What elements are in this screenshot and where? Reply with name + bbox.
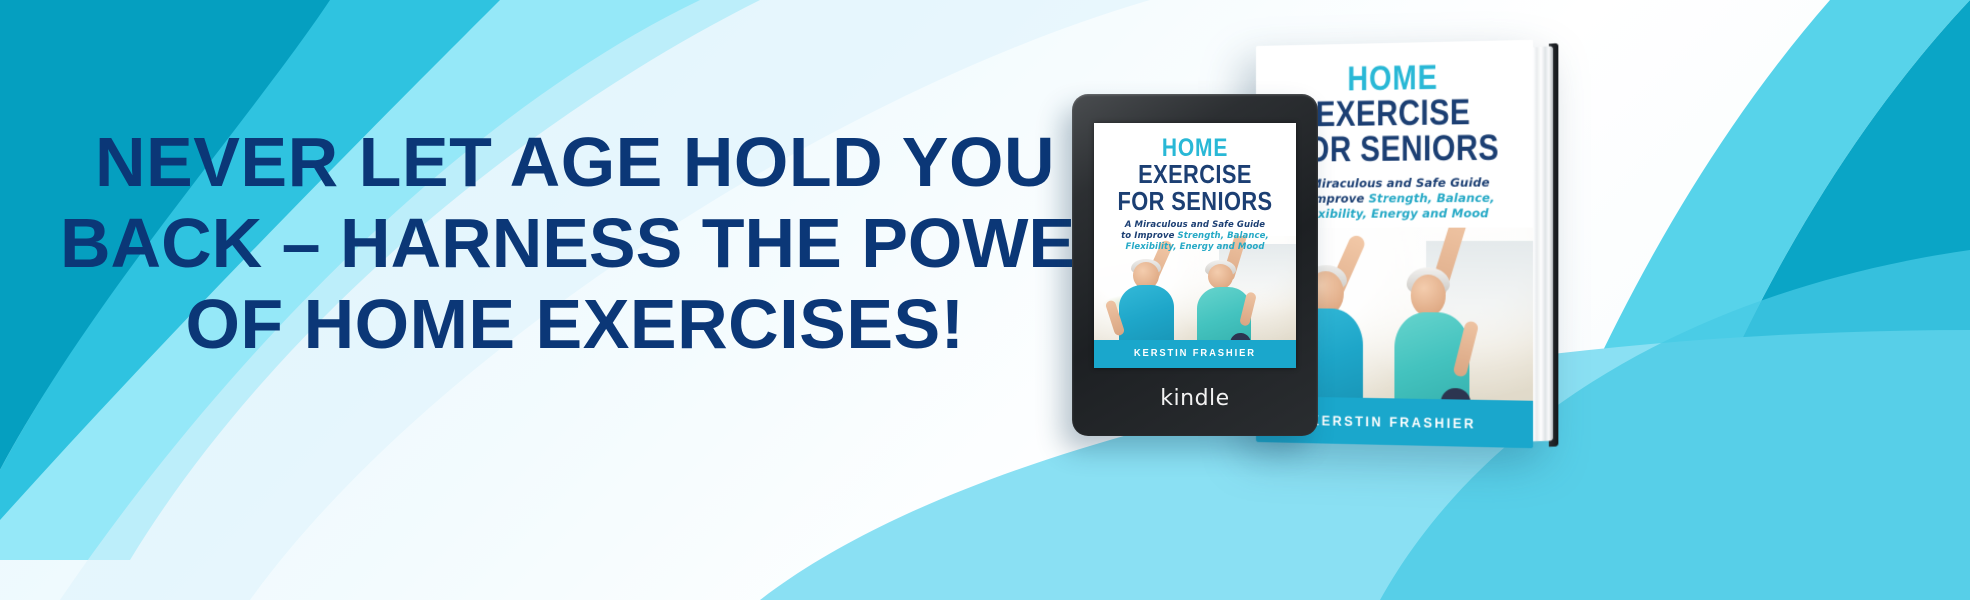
kindle-photo-man bbox=[1106, 245, 1195, 351]
kindle-screen: HOME EXERCISE FOR SENIORS A Miraculous a… bbox=[1094, 123, 1296, 368]
kindle-device: HOME EXERCISE FOR SENIORS A Miraculous a… bbox=[1072, 94, 1318, 436]
kindle-cover-title-home: HOME bbox=[1110, 136, 1280, 161]
kindle-photo-woman bbox=[1187, 237, 1284, 351]
headline-line-2: BACK – HARNESS THE POWER bbox=[60, 203, 1090, 284]
woman-head bbox=[1411, 275, 1446, 316]
cover-subtitle-line3-accent: Flexibility, Energy and Mood bbox=[1298, 206, 1489, 221]
cover-author-name: KERSTIN FRASHIER bbox=[1310, 413, 1476, 432]
headline: NEVER LET AGE HOLD YOU BACK – HARNESS TH… bbox=[60, 122, 1090, 366]
promo-banner: NEVER LET AGE HOLD YOU BACK – HARNESS TH… bbox=[0, 0, 1970, 600]
kindle-cover-subtitle-line2-accent: Strength, Balance, bbox=[1178, 231, 1269, 241]
cover-subtitle-line2-accent: Strength, Balance, bbox=[1368, 191, 1494, 206]
cover-title-home: HOME bbox=[1278, 58, 1511, 97]
kindle-brand-label: kindle bbox=[1072, 386, 1318, 411]
kindle-cover-subtitle-line1: A Miraculous and Safe Guide bbox=[1125, 220, 1265, 230]
kindle-cover-title-for-seniors: FOR SENIORS bbox=[1110, 188, 1280, 215]
kindle-cover-artwork: HOME EXERCISE FOR SENIORS A Miraculous a… bbox=[1094, 123, 1296, 368]
headline-line-3: OF HOME EXERCISES! bbox=[60, 284, 1090, 365]
kindle-cover-title-block: HOME EXERCISE FOR SENIORS A Miraculous a… bbox=[1094, 123, 1296, 253]
kindle-woman-head bbox=[1208, 264, 1233, 289]
kindle-cover-subtitle-line2-plain: to Improve bbox=[1121, 231, 1177, 241]
kindle-cover-title-exercise: EXERCISE bbox=[1110, 161, 1280, 188]
kindle-cover-subtitle: A Miraculous and Safe Guide to Improve S… bbox=[1110, 214, 1280, 253]
book-page-edges bbox=[1530, 46, 1553, 442]
kindle-cover-subtitle-line3-accent: Flexibility, Energy and Mood bbox=[1125, 242, 1264, 252]
cover-photo-woman bbox=[1381, 230, 1516, 419]
product-images: HOME EXERCISE FOR SENIORS A Miraculous a… bbox=[1060, 0, 1970, 600]
kindle-cover-author-band: KERSTIN FRASHIER bbox=[1094, 340, 1296, 368]
headline-line-1: NEVER LET AGE HOLD YOU bbox=[60, 122, 1090, 203]
kindle-cover-author-name: KERSTIN FRASHIER bbox=[1134, 348, 1256, 359]
cover-subtitle-line1: A Miraculous and Safe Guide bbox=[1297, 175, 1489, 191]
